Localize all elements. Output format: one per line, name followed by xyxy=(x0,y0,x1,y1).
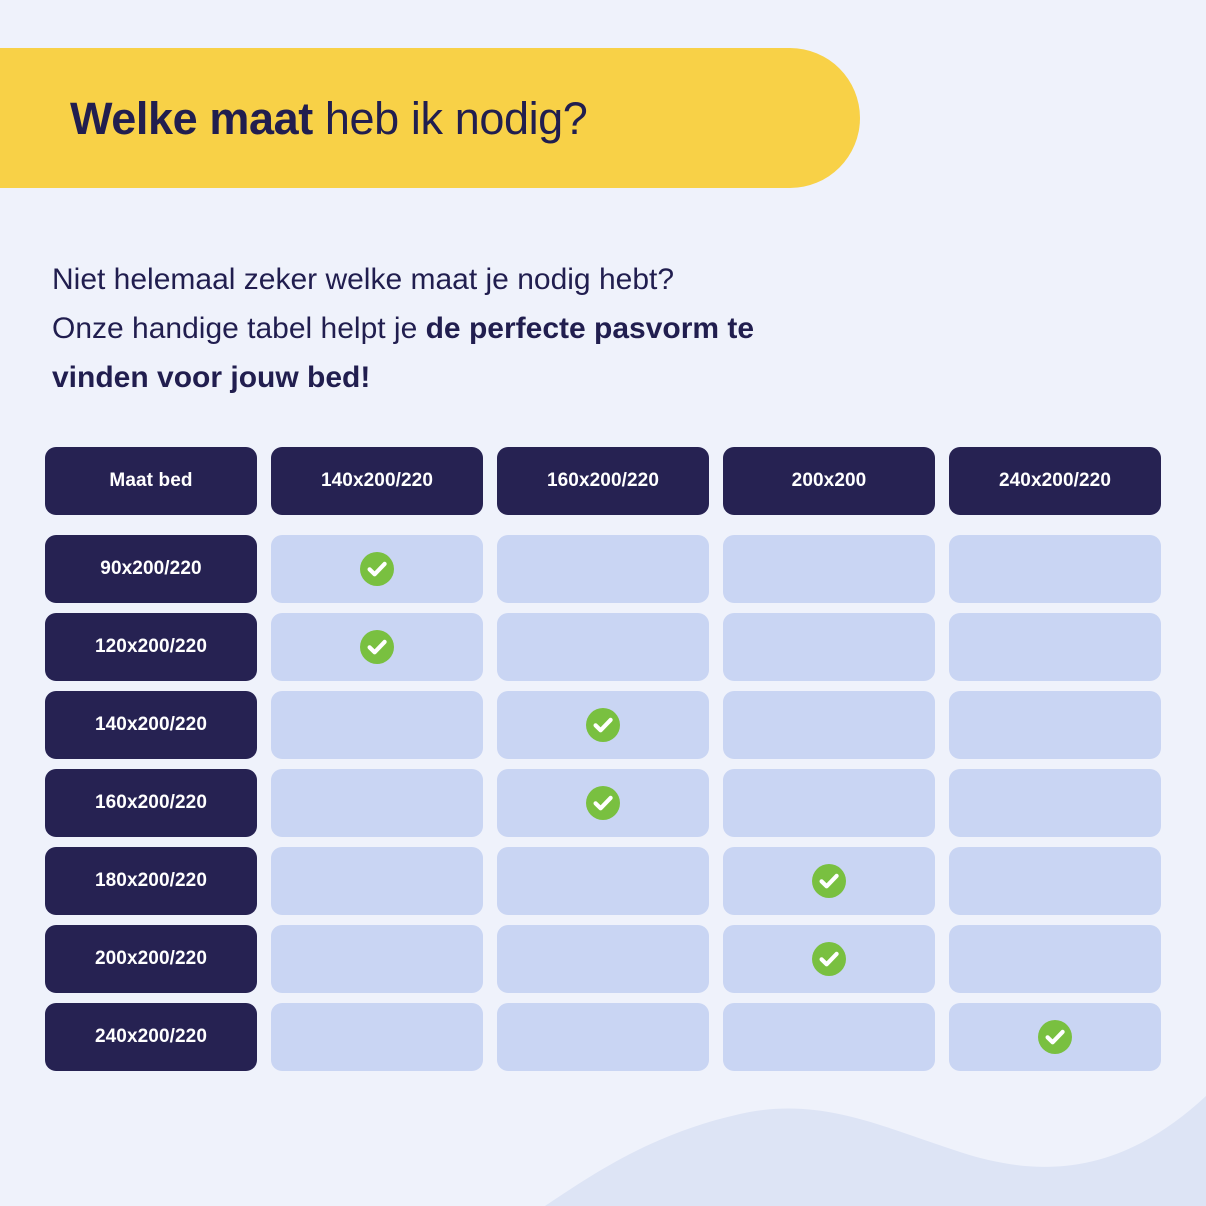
table-header-row: Maat bed 140x200/220 160x200/220 200x200… xyxy=(45,447,1161,515)
cell-r0-c2 xyxy=(723,535,935,603)
row-header-6: 240x200/220 xyxy=(45,1003,257,1071)
table-body: 90x200/220120x200/220140x200/220160x200/… xyxy=(45,535,1161,1071)
column-header-2: 200x200 xyxy=(723,447,935,515)
check-circle-icon xyxy=(586,786,620,820)
cell-r5-c3 xyxy=(949,925,1161,993)
cell-r5-c2 xyxy=(723,925,935,993)
table-row: 140x200/220 xyxy=(45,691,1161,759)
row-header-5: 200x200/220 xyxy=(45,925,257,993)
table-corner-header: Maat bed xyxy=(45,447,257,515)
intro-line-2-bold: de perfecte pasvorm te xyxy=(426,312,754,345)
cell-r0-c0 xyxy=(271,535,483,603)
intro-paragraph: Niet helemaal zeker welke maat je nodig … xyxy=(52,255,1012,402)
column-header-0: 140x200/220 xyxy=(271,447,483,515)
size-comparison-table: Maat bed 140x200/220 160x200/220 200x200… xyxy=(45,447,1161,1071)
intro-line-3: vinden voor jouw bed! xyxy=(52,353,1012,402)
row-header-4: 180x200/220 xyxy=(45,847,257,915)
row-header-1: 120x200/220 xyxy=(45,613,257,681)
cell-r2-c3 xyxy=(949,691,1161,759)
check-circle-icon xyxy=(360,552,394,586)
cell-r1-c1 xyxy=(497,613,709,681)
cell-r0-c1 xyxy=(497,535,709,603)
page-title-bold: Welke maat xyxy=(70,93,313,144)
intro-line-2-regular: Onze handige tabel helpt je xyxy=(52,312,426,345)
intro-line-3-bold: vinden voor jouw bed! xyxy=(52,361,370,394)
column-header-3: 240x200/220 xyxy=(949,447,1161,515)
cell-r3-c2 xyxy=(723,769,935,837)
cell-r0-c3 xyxy=(949,535,1161,603)
cell-r5-c1 xyxy=(497,925,709,993)
cell-r2-c2 xyxy=(723,691,935,759)
row-header-0: 90x200/220 xyxy=(45,535,257,603)
cell-r5-c0 xyxy=(271,925,483,993)
cell-r4-c2 xyxy=(723,847,935,915)
row-header-3: 160x200/220 xyxy=(45,769,257,837)
cell-r1-c0 xyxy=(271,613,483,681)
cell-r4-c1 xyxy=(497,847,709,915)
cell-r6-c1 xyxy=(497,1003,709,1071)
table-row: 120x200/220 xyxy=(45,613,1161,681)
check-circle-icon xyxy=(360,630,394,664)
cell-r3-c3 xyxy=(949,769,1161,837)
table-row: 160x200/220 xyxy=(45,769,1161,837)
column-header-1: 160x200/220 xyxy=(497,447,709,515)
check-circle-icon xyxy=(812,942,846,976)
cell-r3-c1 xyxy=(497,769,709,837)
cell-r1-c2 xyxy=(723,613,935,681)
table-row: 200x200/220 xyxy=(45,925,1161,993)
header-banner: Welke maat heb ik nodig? xyxy=(0,48,860,188)
check-circle-icon xyxy=(812,864,846,898)
cell-r2-c1 xyxy=(497,691,709,759)
cell-r6-c2 xyxy=(723,1003,935,1071)
intro-line-2: Onze handige tabel helpt je de perfecte … xyxy=(52,304,1012,353)
row-header-2: 140x200/220 xyxy=(45,691,257,759)
cell-r4-c0 xyxy=(271,847,483,915)
cell-r1-c3 xyxy=(949,613,1161,681)
table-row: 240x200/220 xyxy=(45,1003,1161,1071)
intro-line-1: Niet helemaal zeker welke maat je nodig … xyxy=(52,255,1012,304)
table-row: 180x200/220 xyxy=(45,847,1161,915)
cell-r3-c0 xyxy=(271,769,483,837)
intro-line-1-text: Niet helemaal zeker welke maat je nodig … xyxy=(52,263,674,296)
check-circle-icon xyxy=(1038,1020,1072,1054)
check-circle-icon xyxy=(586,708,620,742)
bottom-wave-decoration xyxy=(0,1056,1206,1206)
cell-r4-c3 xyxy=(949,847,1161,915)
page-title-light: heb ik nodig? xyxy=(313,93,588,144)
table-row: 90x200/220 xyxy=(45,535,1161,603)
cell-r6-c3 xyxy=(949,1003,1161,1071)
page-title: Welke maat heb ik nodig? xyxy=(70,96,587,141)
cell-r6-c0 xyxy=(271,1003,483,1071)
cell-r2-c0 xyxy=(271,691,483,759)
